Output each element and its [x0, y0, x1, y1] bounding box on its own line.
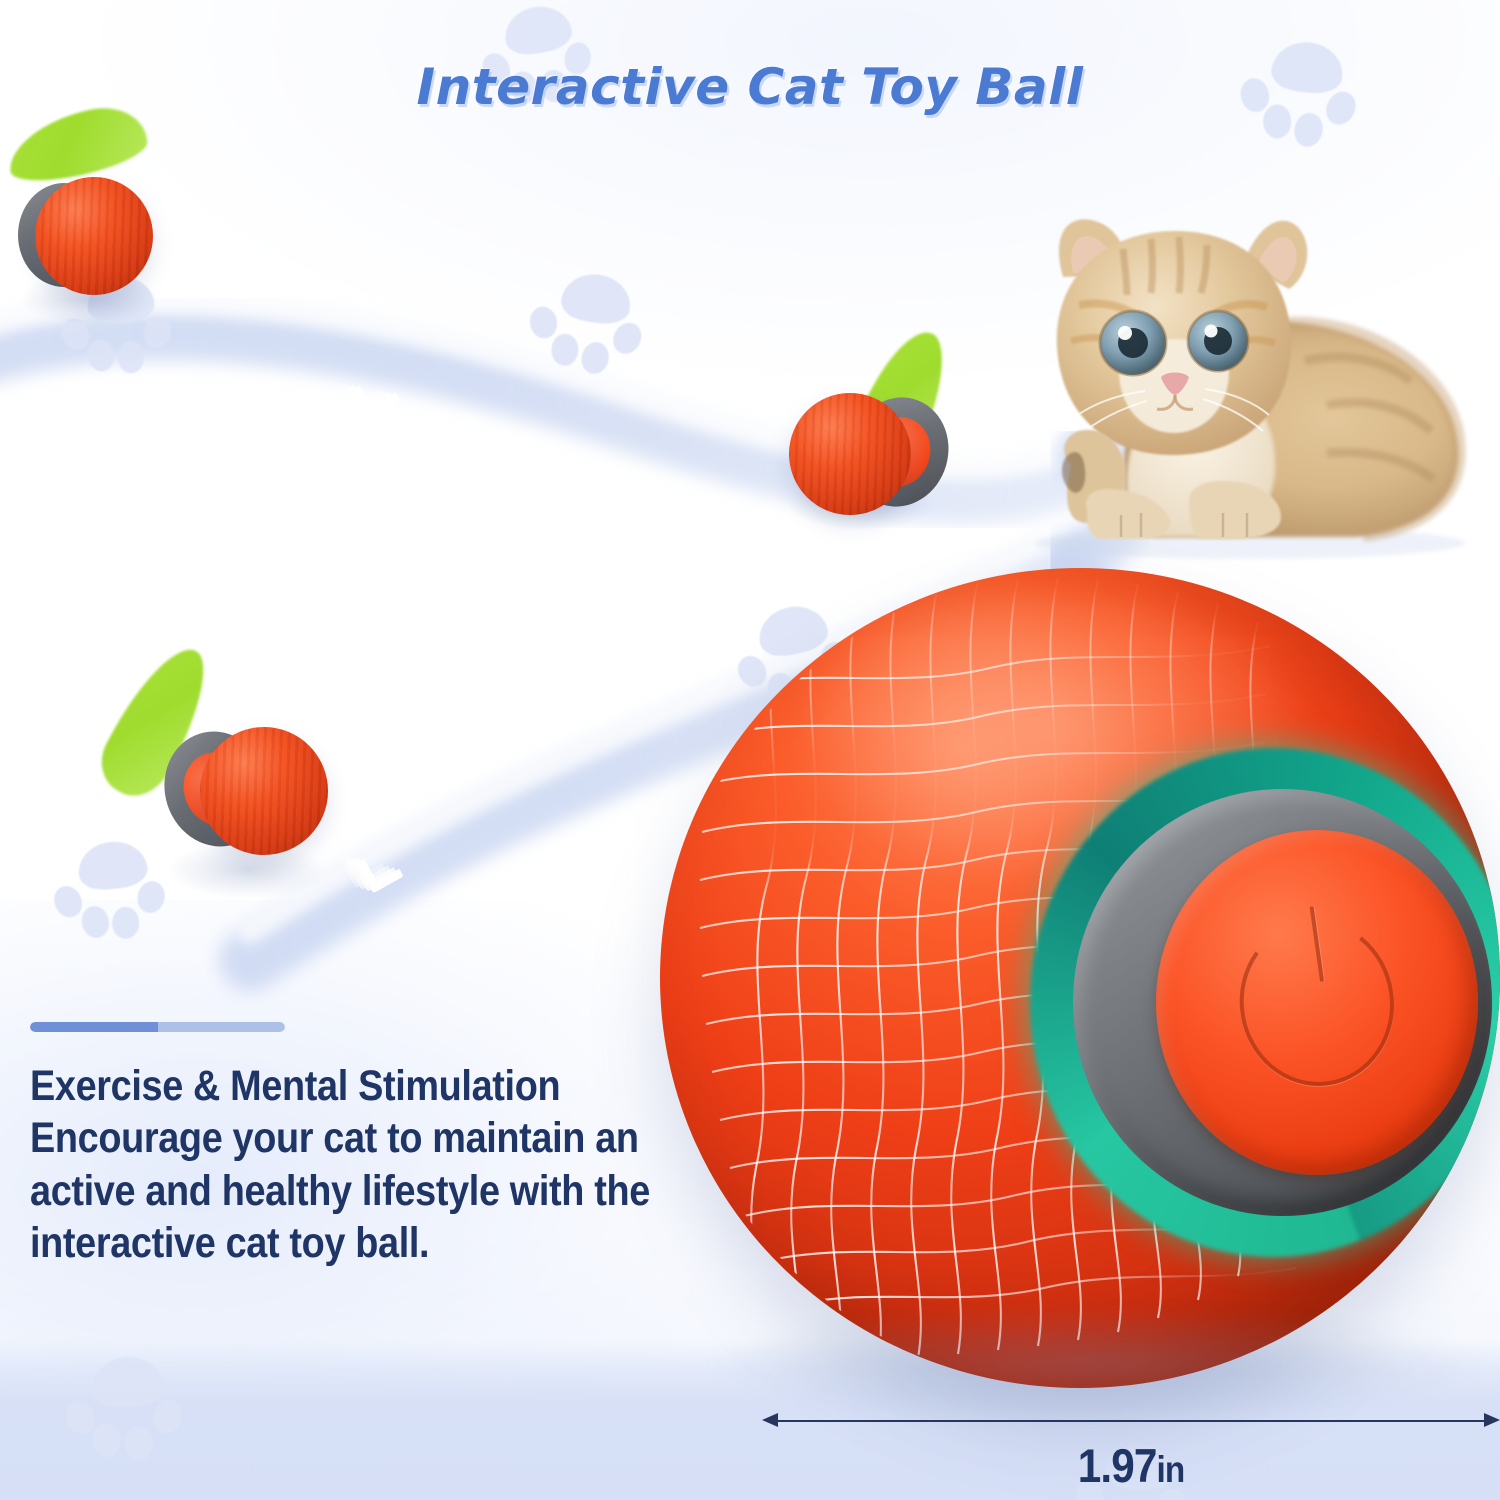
section-divider — [30, 1022, 285, 1032]
size-measurement: 1.97in — [762, 1412, 1500, 1500]
measurement-line — [776, 1420, 1486, 1422]
arrow-right-icon — [1484, 1413, 1500, 1427]
measurement-unit: in — [1156, 1449, 1184, 1490]
page-title: Interactive Cat Toy Ball — [0, 58, 1500, 116]
ball-sphere — [200, 727, 328, 855]
divider-segment-dark — [30, 1022, 158, 1032]
hero-ball-contact-shadow — [710, 1306, 1483, 1421]
divider-segment-light — [158, 1022, 286, 1032]
interactive-cat-toy-ball-hero — [660, 568, 1500, 1388]
paw-print-7 — [60, 1352, 194, 1471]
hero-ball-cap-assembly — [1030, 748, 1500, 1256]
feature-body-line-2: active and healthy lifestyle with the — [30, 1165, 725, 1217]
mini-ball-lower-left — [105, 635, 375, 905]
power-button[interactable] — [1156, 830, 1478, 1176]
feature-copy-block: Exercise & Mental Stimulation Encourage … — [30, 1060, 725, 1270]
measurement-label: 1.97in — [799, 1438, 1463, 1493]
feature-heading: Exercise & Mental Stimulation — [30, 1060, 725, 1112]
ball-sphere — [789, 393, 911, 515]
feature-body-line-3: interactive cat toy ball. — [30, 1217, 725, 1269]
arrow-left-icon — [762, 1413, 778, 1427]
measurement-value: 1.97 — [1078, 1439, 1157, 1492]
ball-sphere — [35, 177, 153, 295]
product-marketing-image: Interactive Cat Toy Ball Exercise & Ment… — [0, 0, 1500, 1500]
hero-ball-body — [660, 568, 1500, 1388]
mini-ball-top-left — [0, 105, 220, 335]
paw-print-4 — [521, 264, 659, 388]
power-icon — [1240, 920, 1394, 1086]
feature-body-line-1: Encourage your cat to maintain an — [30, 1112, 725, 1164]
kitten-photo — [975, 165, 1500, 565]
